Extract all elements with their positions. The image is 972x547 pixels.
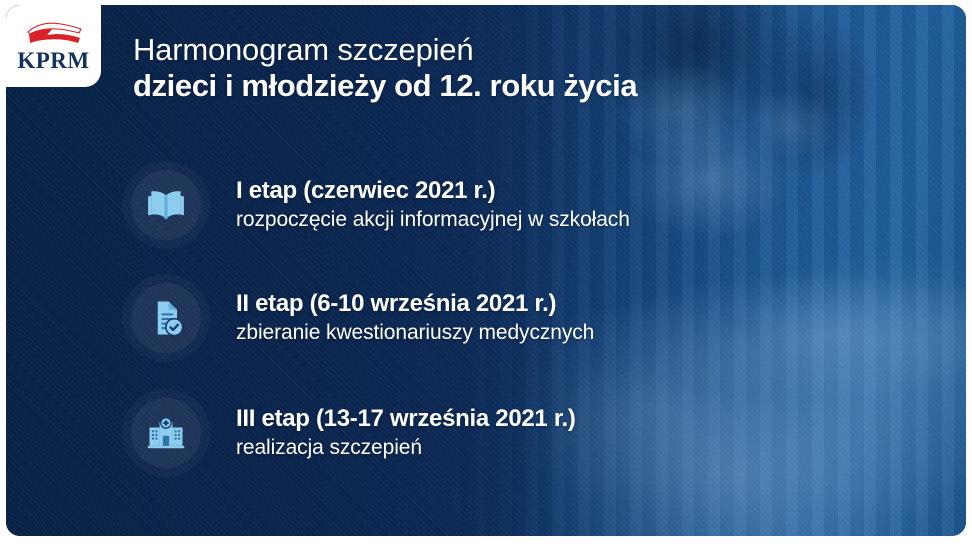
- stage-1-description: rozpoczęcie akcji informacyjnej w szkoła…: [236, 207, 630, 233]
- title-line-1: Harmonogram szczepień: [133, 32, 637, 68]
- kprm-logo: KPRM: [6, 5, 101, 87]
- stage-3-texts: III etap (13-17 września 2021 r.) realiz…: [236, 405, 576, 462]
- hospital-icon: [144, 411, 188, 455]
- stage-row-1: I etap (czerwiec 2021 r.) rozpoczęcie ak…: [122, 161, 630, 249]
- infographic-page: KPRM Harmonogram szczepień dzieci i młod…: [0, 0, 972, 547]
- stage-1-heading: I etap (czerwiec 2021 r.): [236, 177, 630, 205]
- page-title: Harmonogram szczepień dzieci i młodzieży…: [133, 32, 637, 105]
- stage-2-heading: II etap (6-10 września 2021 r.): [236, 290, 594, 318]
- stage-row-2: II etap (6-10 września 2021 r.) zbierani…: [122, 274, 594, 362]
- stage-2-description: zbieranie kwestionariuszy medycznych: [236, 320, 594, 346]
- infographic-card: KPRM Harmonogram szczepień dzieci i młod…: [6, 5, 966, 536]
- stage-3-description: realizacja szczepień: [236, 435, 576, 461]
- stage-3-icon-badge: [122, 389, 210, 477]
- stage-2-icon-badge: [122, 274, 210, 362]
- title-line-2: dzieci i młodzieży od 12. roku życia: [133, 68, 637, 104]
- document-check-icon: [144, 296, 188, 340]
- kprm-wordmark: KPRM: [17, 49, 89, 72]
- stage-1-texts: I etap (czerwiec 2021 r.) rozpoczęcie ak…: [236, 177, 630, 234]
- stage-3-heading: III etap (13-17 września 2021 r.): [236, 405, 576, 433]
- stage-1-icon-badge: [122, 161, 210, 249]
- stage-row-3: III etap (13-17 września 2021 r.) realiz…: [122, 389, 576, 477]
- open-book-icon: [144, 183, 188, 227]
- polish-flag-icon: [25, 21, 83, 47]
- stage-2-texts: II etap (6-10 września 2021 r.) zbierani…: [236, 290, 594, 347]
